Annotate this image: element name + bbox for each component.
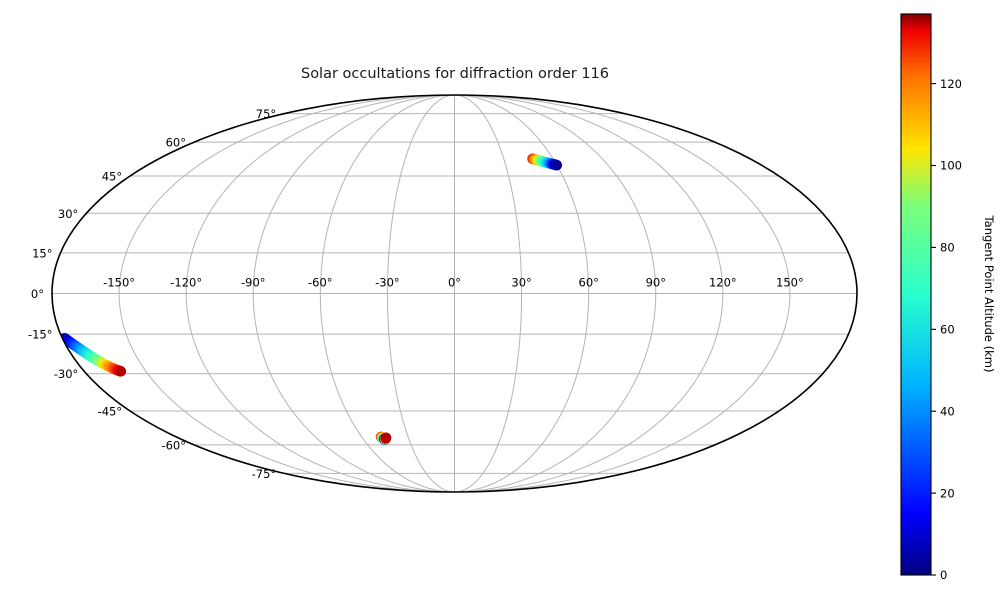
latitude-tick--45: -45° [98, 405, 123, 419]
longitude-tick-150: 150° [776, 276, 804, 290]
latitude-tick--15: -15° [28, 328, 53, 342]
occultation-tracks [59, 154, 562, 445]
latitude-tick-45: 45° [102, 170, 122, 184]
longitude-tick-30: 30° [511, 276, 531, 290]
longitude-tick-120: 120° [709, 276, 737, 290]
latitude-tick--75: -75° [252, 467, 277, 481]
latitude-tick--60: -60° [161, 438, 186, 452]
occultation-track-south-polar [376, 432, 391, 445]
mollweide-map-plot: Solar occultations for diffraction order… [0, 0, 1000, 600]
latitude-tick--30: -30° [54, 367, 79, 381]
longitude-tick-0: 0° [448, 276, 461, 290]
longitude-tick--30: -30° [375, 276, 400, 290]
graticule-lines [52, 95, 857, 492]
colorbar-tick-label-40: 40 [940, 404, 955, 418]
latitude-tick-15: 15° [32, 246, 52, 260]
data-point [381, 433, 391, 443]
colorbar-tick-label-100: 100 [940, 159, 962, 173]
colorbar-axis-label: Tangent Point Altitude (km) [982, 215, 996, 373]
colorbar-tick-label-80: 80 [940, 241, 955, 255]
longitude-tick-labels: -150°-120°-90°-60°-30°0°30°60°90°120°150… [103, 276, 804, 290]
occultation-track-northeast [527, 154, 562, 171]
latitude-tick-0: 0° [31, 287, 44, 301]
page-title: Solar occultations for diffraction order… [301, 66, 609, 82]
longitude-tick--150: -150° [103, 276, 135, 290]
colorbar-tick-label-60: 60 [940, 323, 955, 337]
longitude-tick-90: 90° [646, 276, 666, 290]
longitude-tick--120: -120° [170, 276, 202, 290]
longitude-tick--90: -90° [241, 276, 266, 290]
colorbar-tick-label-0: 0 [940, 568, 947, 582]
latitude-tick-30: 30° [58, 207, 78, 221]
data-point [116, 366, 126, 376]
colorbar-tick-label-20: 20 [940, 486, 955, 500]
latitude-tick-60: 60° [166, 136, 186, 150]
colorbar: 020406080100120 Tangent Point Altitude (… [901, 14, 996, 582]
longitude-tick--60: -60° [308, 276, 333, 290]
latitude-tick-75: 75° [256, 107, 276, 121]
colorbar-ticks: 020406080100120 [931, 77, 962, 582]
longitude-tick-60: 60° [579, 276, 599, 290]
colorbar-gradient [901, 14, 931, 575]
data-point [552, 160, 562, 170]
figure-canvas: Solar occultations for diffraction order… [0, 0, 1000, 600]
colorbar-tick-label-120: 120 [940, 77, 962, 91]
